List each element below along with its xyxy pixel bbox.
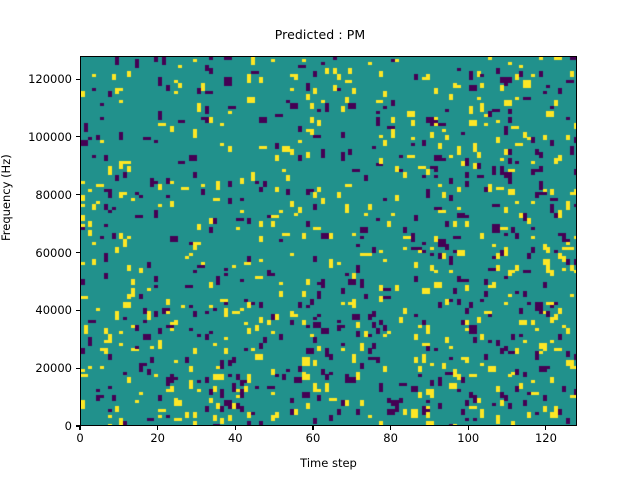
- x-tick-mark: [312, 426, 313, 430]
- x-tick-mark: [468, 426, 469, 430]
- y-tick-label: 120000: [8, 72, 72, 86]
- x-tick-mark: [79, 426, 80, 430]
- x-tick-label: 120: [516, 431, 576, 445]
- heatmap-image: [81, 57, 577, 426]
- page-title: Predicted : PM: [0, 27, 640, 42]
- y-tick-label: 60000: [8, 246, 72, 260]
- x-tick-mark: [545, 426, 546, 430]
- x-tick-mark: [390, 426, 391, 430]
- x-tick-label: 20: [128, 431, 188, 445]
- x-tick-label: 100: [438, 431, 498, 445]
- heatmap-axes: [80, 56, 577, 426]
- y-tick-label: 0: [8, 419, 72, 433]
- y-tick-label: 80000: [8, 188, 72, 202]
- x-tick-label: 40: [205, 431, 265, 445]
- y-tick-label: 40000: [8, 303, 72, 317]
- x-tick-mark: [235, 426, 236, 430]
- x-axis-label: Time step: [80, 456, 577, 470]
- x-tick-label: 0: [50, 431, 110, 445]
- x-tick-label: 60: [283, 431, 343, 445]
- matplotlib-figure: Predicted : PM Frequency (Hz) Time step …: [0, 0, 640, 480]
- y-tick-label: 100000: [8, 130, 72, 144]
- x-tick-label: 80: [361, 431, 421, 445]
- y-axis-label: Frequency (Hz): [0, 154, 13, 241]
- x-tick-mark: [157, 426, 158, 430]
- y-tick-label: 20000: [8, 361, 72, 375]
